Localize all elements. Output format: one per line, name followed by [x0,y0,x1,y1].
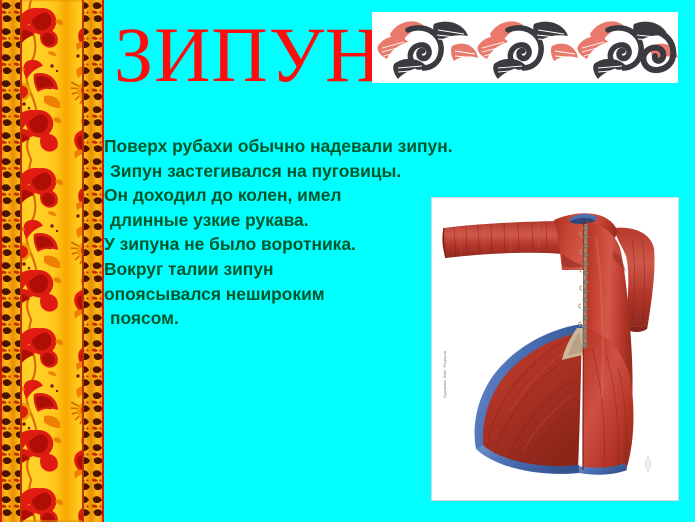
zipun-photo-panel: Художник Олег Фёдоров [432,198,678,500]
photo-credit-text: Художник Олег Фёдоров [443,351,447,398]
khokhloma-border-svg [0,0,104,522]
page-title: ЗИПУН [114,12,364,98]
body-line: Он доходил до колен, имел [104,183,464,208]
mezen-swirl-banner [372,12,678,83]
body-line: Вокруг талии зипун [104,257,464,282]
mezen-swirl-banner-svg [372,12,678,83]
body-line: поясом. [104,306,464,331]
body-line: Зипун застегивался на пуговицы. [104,159,464,184]
khokhloma-border-strip [0,0,104,522]
slide-canvas: ЗИПУН [0,0,695,522]
zipun-garment-image [432,198,678,500]
body-line: длинные узкие рукава. [104,208,464,233]
body-line: Поверх рубахи обычно надевали зипун. [104,134,464,159]
body-line: опоясывался нешироким [104,282,464,307]
body-line: У зипуна не было воротника. [104,232,464,257]
body-text-block: Поверх рубахи обычно надевали зипун. Зип… [104,134,464,331]
